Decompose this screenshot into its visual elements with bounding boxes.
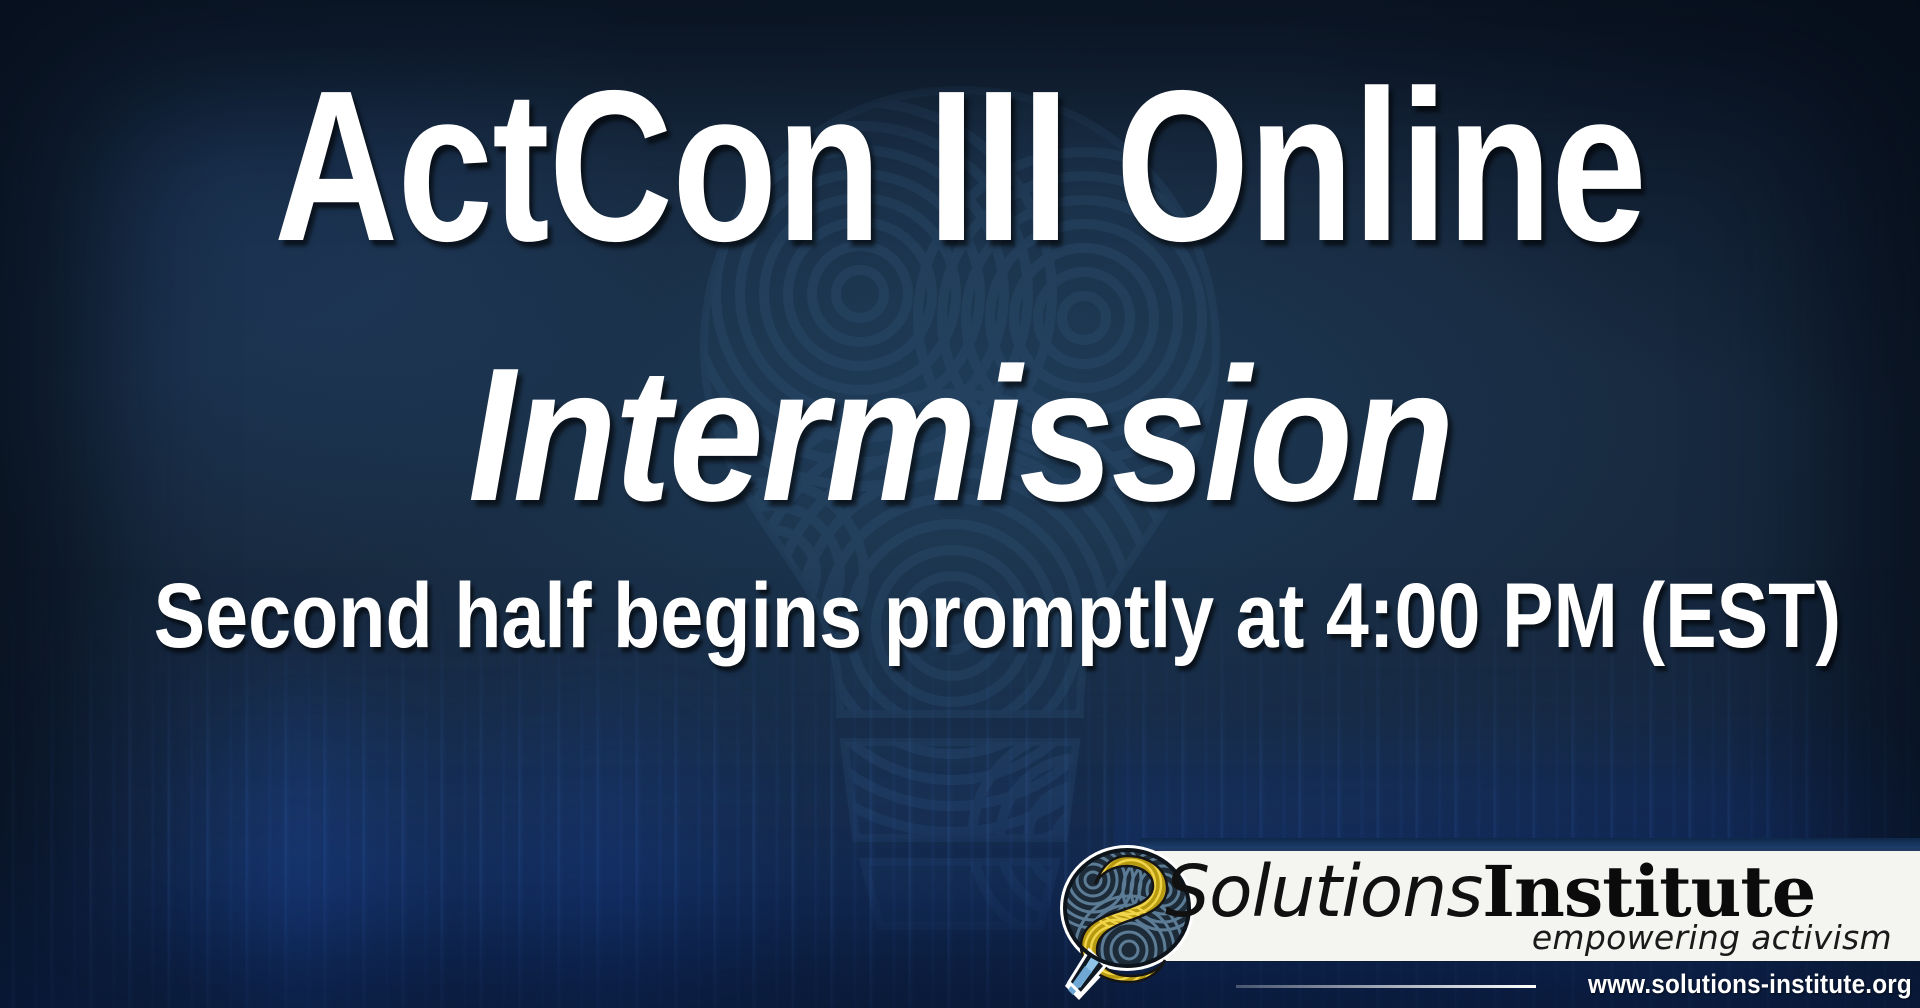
slide-canvas: ActCon III Online Intermission Second ha… [0,0,1920,1008]
logo-plate-top-edge [1140,838,1920,848]
logo-url[interactable]: www.solutions-institute.org [1588,969,1912,1000]
logo-url-row: www.solutions-institute.org [1035,964,1912,1004]
event-tagline: Second half begins promptly at 4:00 PM (… [154,570,1767,662]
logo-url-rule [1236,985,1536,988]
logo-slogan: empowering activism [1532,918,1892,957]
organization-logo: Solutions Institute empowering activism … [1035,838,1920,1008]
logo-brand-first: Solutions [1165,850,1482,933]
background-bright-streak [154,625,807,1008]
event-title: ActCon III Online [192,58,1728,273]
logo-wordmark: Solutions Institute [1165,850,1815,928]
event-subtitle: Intermission [96,340,1824,530]
